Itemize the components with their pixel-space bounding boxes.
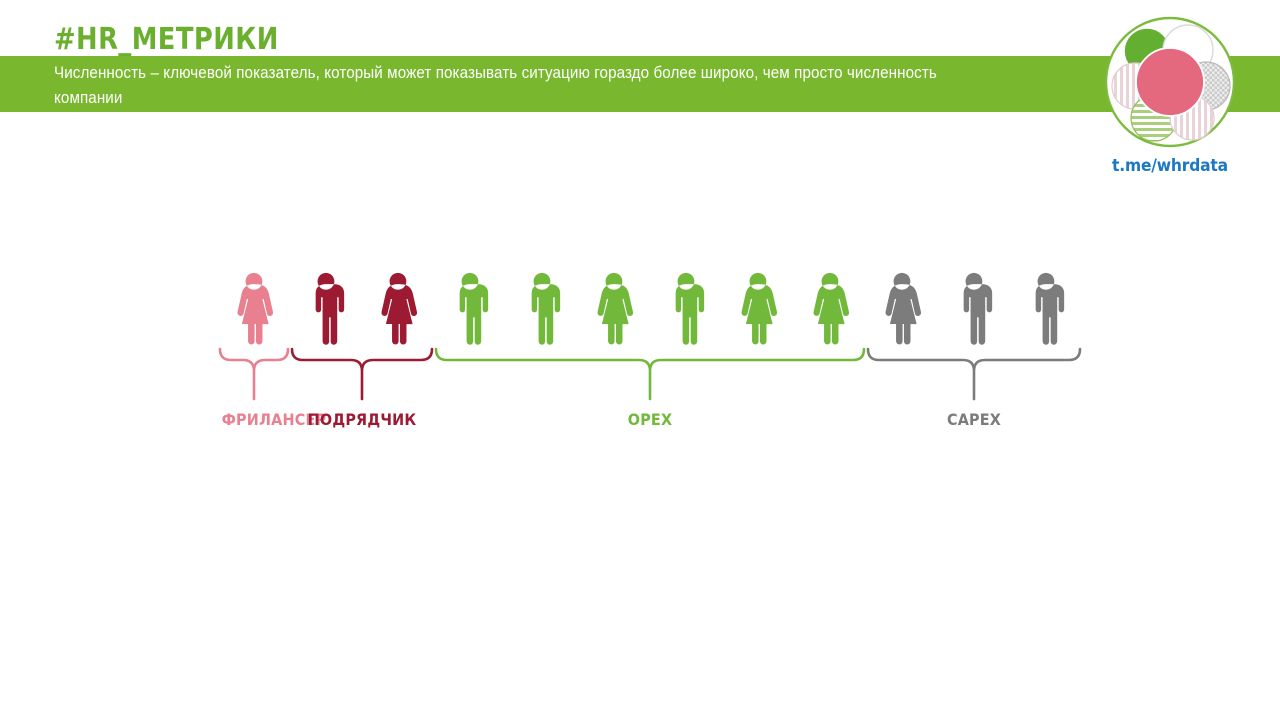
group-brace-opex <box>434 347 866 403</box>
group-brace-capex <box>866 347 1082 403</box>
person-icon-contractor-female <box>372 269 424 349</box>
group-label-freelancer: ФРИЛАНСЕР <box>222 410 287 429</box>
person-icon-freelancer-female <box>228 269 280 349</box>
person-icon-opex-male <box>516 269 568 349</box>
brace-layer <box>0 347 1280 417</box>
group-brace-contractor <box>290 347 434 403</box>
telegram-handle-label[interactable]: t.me/whrdata <box>1099 156 1242 175</box>
flower-logo-icon <box>1102 14 1238 150</box>
person-icon-opex-female <box>588 269 640 349</box>
person-icon-opex-female <box>804 269 856 349</box>
brand-logo-block[interactable]: t.me/whrdata <box>1094 14 1246 175</box>
person-icon-capex-male <box>1020 269 1072 349</box>
person-icon-opex-male <box>660 269 712 349</box>
person-icon-capex-male <box>948 269 1000 349</box>
headcount-pictogram-chart: ФРИЛАНСЕРПОДРЯДЧИКOPEXCAPEX <box>0 255 1280 455</box>
header-subtitle: Численность – ключевой показатель, котор… <box>54 61 956 111</box>
person-icon-opex-male <box>444 269 496 349</box>
group-label-contractor: ПОДРЯДЧИК <box>297 410 427 429</box>
person-icon-opex-female <box>732 269 784 349</box>
people-row <box>0 255 1280 360</box>
group-label-opex: OPEX <box>456 410 845 429</box>
person-icon-capex-female <box>876 269 928 349</box>
page-title: #HR_МЕТРИКИ <box>54 22 279 57</box>
person-icon-contractor-male <box>300 269 352 349</box>
group-label-capex: CAPEX <box>877 410 1071 429</box>
group-brace-freelancer <box>218 347 290 403</box>
